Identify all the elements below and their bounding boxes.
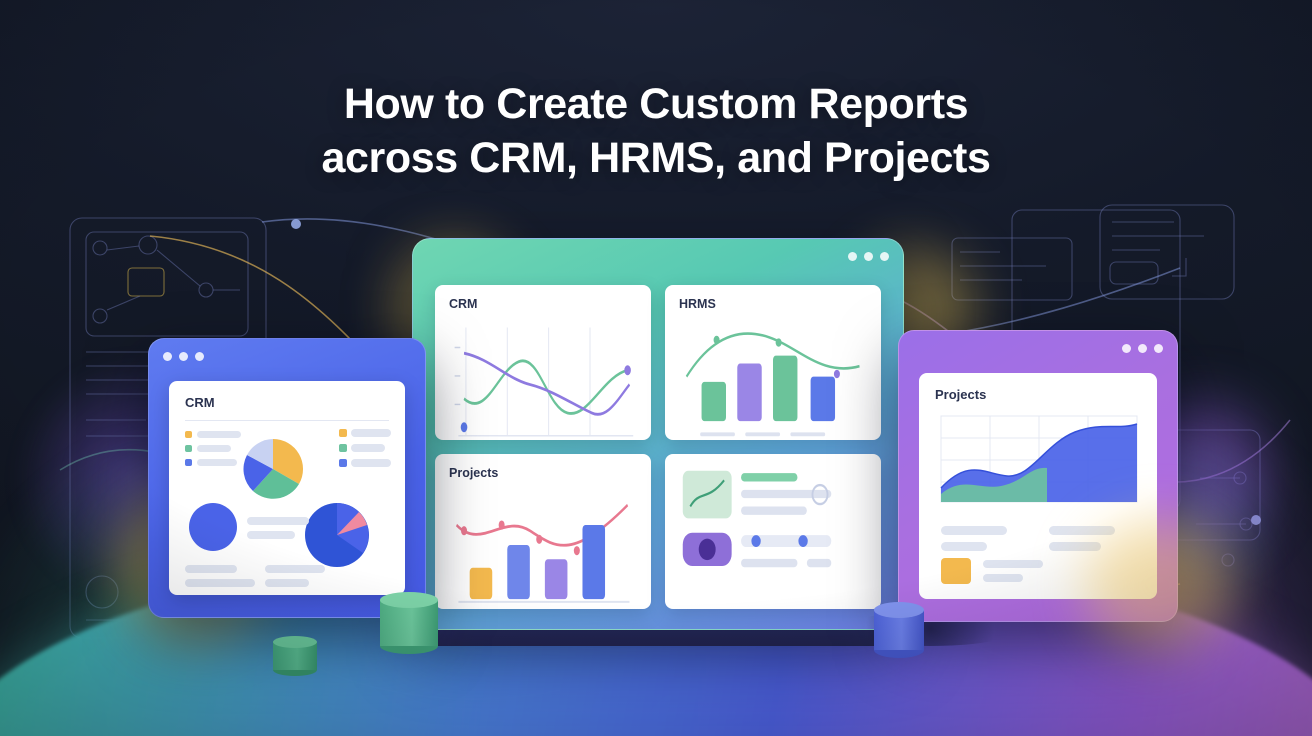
window-dot-icon xyxy=(1122,344,1131,353)
left-panel-header: CRM xyxy=(169,381,405,421)
cylinder-top xyxy=(380,592,438,608)
card-projects[interactable]: Projects xyxy=(435,454,651,609)
window-dot-icon xyxy=(1154,344,1163,353)
card-title: HRMS xyxy=(679,297,867,311)
page-title: How to Create Custom Reports across CRM,… xyxy=(0,78,1312,186)
card-widgets[interactable] xyxy=(665,454,881,609)
card-crm-line[interactable]: CRM xyxy=(435,285,651,440)
window-dot-icon xyxy=(163,352,172,361)
widget-tiles xyxy=(679,466,867,597)
card-hrms[interactable]: HRMS xyxy=(665,285,881,440)
card-title: CRM xyxy=(449,297,637,311)
headline-line-2: across CRM, HRMS, and Projects xyxy=(0,132,1312,186)
projects-bar-chart xyxy=(449,488,637,609)
window-dot-icon xyxy=(195,352,204,361)
panel-title: Projects xyxy=(935,387,1141,402)
cylinder-blue xyxy=(874,602,924,658)
right-monitor[interactable]: Projects xyxy=(898,330,1178,622)
cylinder-top xyxy=(874,602,924,618)
projects-area-chart xyxy=(919,402,1157,588)
cylinder-green-small xyxy=(273,636,317,676)
left-laptop[interactable]: CRM xyxy=(148,338,426,618)
panel-title: CRM xyxy=(185,395,389,410)
window-dot-icon xyxy=(864,252,873,261)
cylinder-top xyxy=(273,636,317,648)
cylinder-green-large xyxy=(380,592,438,654)
window-dot-icon xyxy=(179,352,188,361)
window-dot-icon xyxy=(880,252,889,261)
left-laptop-titlebar xyxy=(149,339,425,373)
crm-pie-dashboard xyxy=(169,421,405,595)
hero-illustration: How to Create Custom Reports across CRM,… xyxy=(0,0,1312,736)
left-laptop-screen: CRM xyxy=(169,381,405,595)
headline-line-1: How to Create Custom Reports xyxy=(344,80,968,128)
window-dot-icon xyxy=(848,252,857,261)
center-monitor-dashboard: CRM xyxy=(435,285,881,609)
center-monitor[interactable]: CRM xyxy=(412,238,904,630)
right-monitor-titlebar xyxy=(899,331,1177,365)
right-panel-header: Projects xyxy=(919,373,1157,402)
hrms-bar-chart xyxy=(679,319,867,440)
window-dot-icon xyxy=(1138,344,1147,353)
right-monitor-screen: Projects xyxy=(919,373,1157,599)
center-monitor-titlebar xyxy=(413,239,903,273)
crm-line-chart xyxy=(449,319,637,440)
card-title: Projects xyxy=(449,466,637,480)
